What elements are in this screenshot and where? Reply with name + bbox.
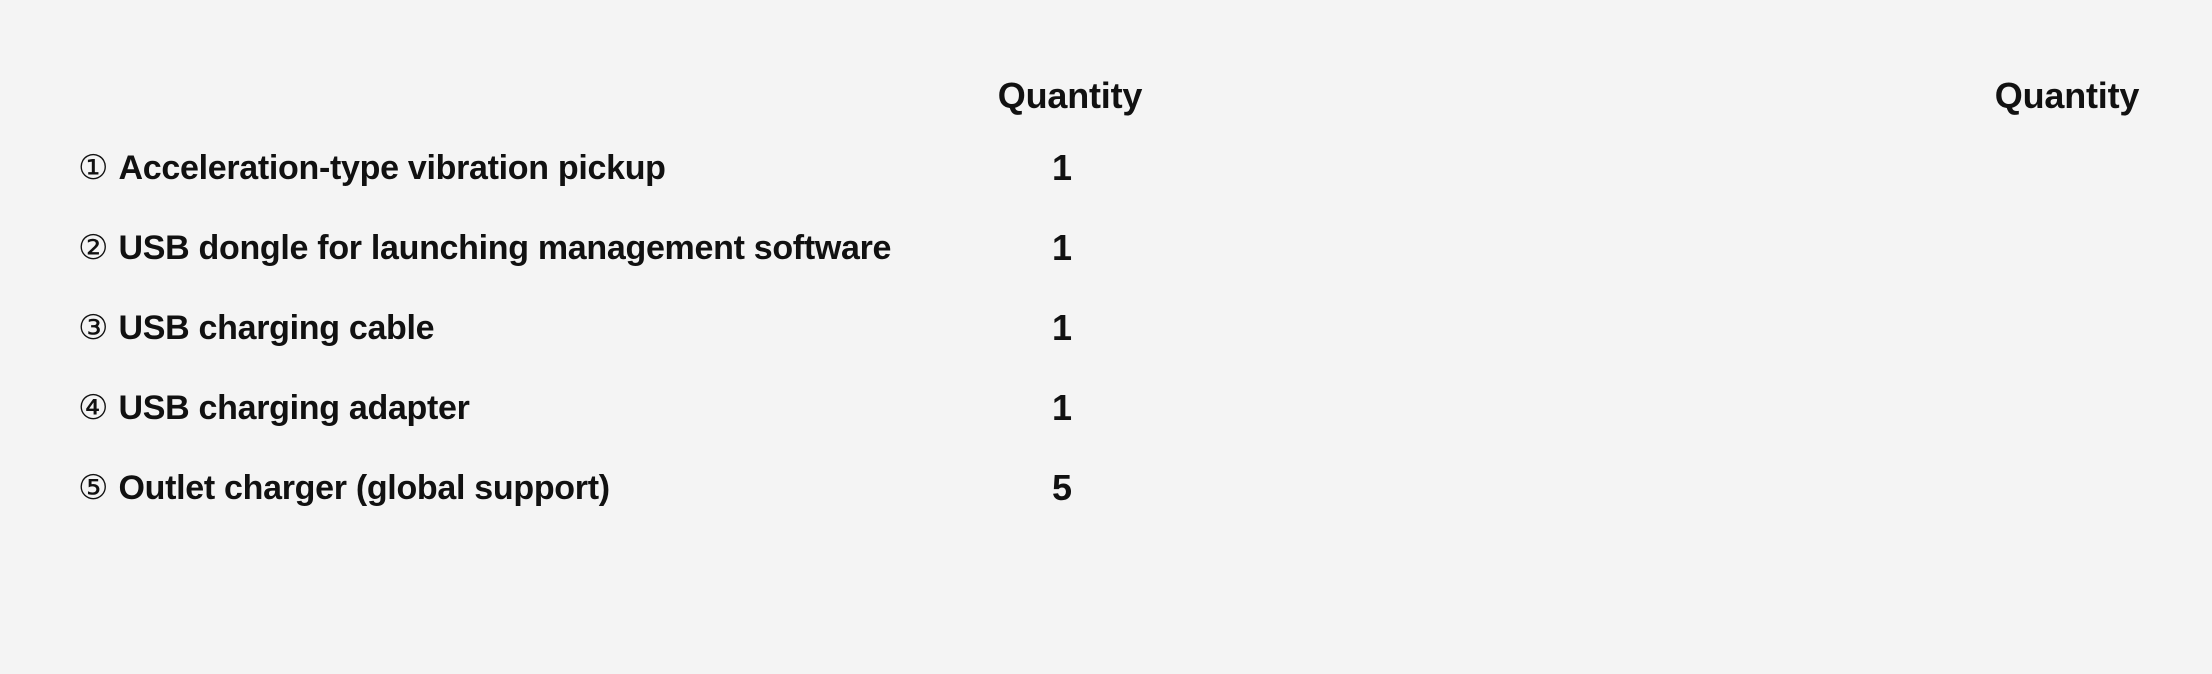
item-label: Acceleration-type vibration pickup xyxy=(118,148,665,188)
list-item: ② USB dongle for launching management so… xyxy=(0,228,1222,308)
quantity-column-header: Quantity xyxy=(930,75,1210,117)
item-list-right: ⑥ Insulated magnet stand 1 ⑦ Waterproof … xyxy=(1222,153,2212,473)
circled-number-icon: ② xyxy=(78,228,108,268)
list-item: ⑤ Outlet charger (global support) 5 xyxy=(0,468,1222,548)
item-quantity: 1 xyxy=(1032,228,1092,268)
item-quantity: 1 xyxy=(1032,308,1092,348)
circled-number-icon: ⑤ xyxy=(78,468,108,508)
item-quantity: 1 xyxy=(1032,388,1092,428)
list-item: ④ USB charging adapter 1 xyxy=(0,388,1222,468)
circled-number-icon: ① xyxy=(78,148,108,188)
list-item: ⑥ Insulated magnet stand 1 xyxy=(1222,153,2212,233)
packing-list-column-left: Quantity ① Acceleration-type vibration p… xyxy=(0,0,1222,674)
quantity-column-header: Quantity xyxy=(1922,75,2212,117)
list-item: ⑨ User guide 1 xyxy=(1222,393,2212,473)
item-label: USB charging cable xyxy=(118,308,434,348)
list-item: ⑦ Waterproof cap (with rubber ring) 1 xyxy=(1222,233,2212,313)
item-list-left: ① Acceleration-type vibration pickup 1 ②… xyxy=(0,148,1222,548)
list-item: ① Acceleration-type vibration pickup 1 xyxy=(0,148,1222,228)
circled-number-icon: ③ xyxy=(78,308,108,348)
item-quantity: 1 xyxy=(1032,148,1092,188)
item-label: USB dongle for launching management soft… xyxy=(118,228,891,268)
list-item: ③ USB charging cable 1 xyxy=(0,308,1222,388)
circled-number-icon: ④ xyxy=(78,388,108,428)
item-label: Outlet charger (global support) xyxy=(118,468,609,508)
list-item: ⑧ Inspection certificate 1 xyxy=(1222,313,2212,393)
packing-list-column-right: Quantity ⑥ Insulated magnet stand 1 ⑦ Wa… xyxy=(1222,0,2212,674)
packing-list-columns: Quantity ① Acceleration-type vibration p… xyxy=(0,0,2212,674)
packing-list-sheet: Quantity ① Acceleration-type vibration p… xyxy=(0,0,2212,674)
item-quantity: 5 xyxy=(1032,468,1092,508)
item-label: USB charging adapter xyxy=(118,388,469,428)
